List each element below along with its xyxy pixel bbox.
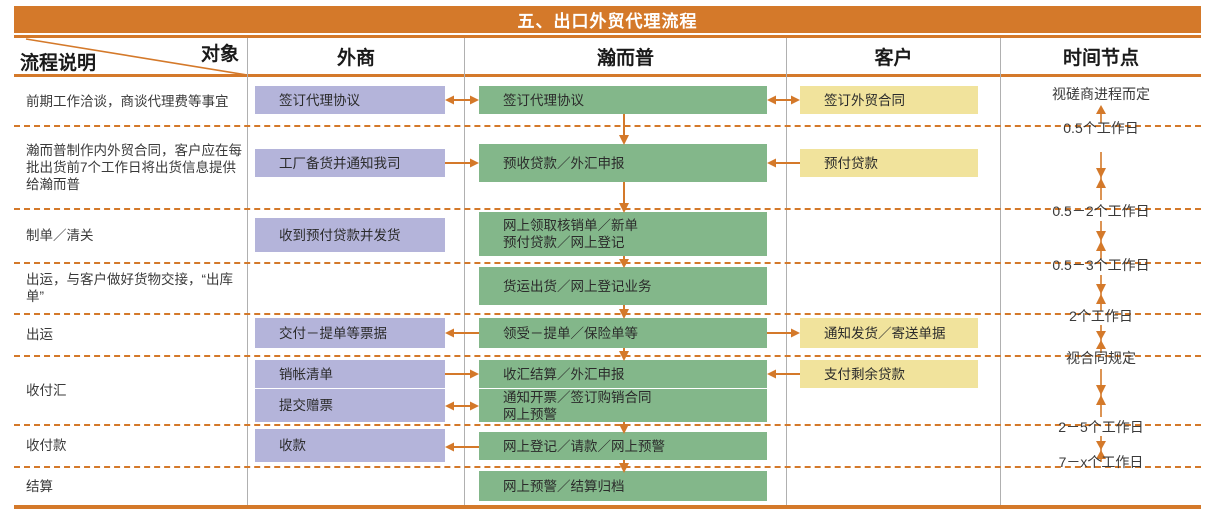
time-node-3: 0.5－2个工作日	[1001, 201, 1201, 221]
time-node-7: 2－5个工作日	[1001, 417, 1201, 437]
box-foreign-r6b[interactable]: 提交赠票	[255, 389, 445, 422]
box-foreign-r1[interactable]: 签订代理协议	[255, 86, 445, 114]
desc-row-3: 制单／清关	[26, 212, 242, 258]
vflow-arrow-1	[616, 114, 632, 145]
arrow-hanerpu-foreign-r5	[445, 326, 479, 340]
header-corner-cell: 对象 流程说明	[14, 38, 247, 74]
desc-row-4: 出运，与客户做好货物交接，“出库单”	[26, 266, 242, 310]
arrow-customer-hanerpu-r6	[767, 367, 800, 381]
header-underline	[14, 74, 1201, 77]
arrow-foreign-hanerpu-r1	[445, 93, 479, 107]
box-foreign-r7[interactable]: 收款	[255, 429, 445, 462]
arrow-customer-hanerpu-r2	[767, 156, 800, 170]
vflow-arrow-3	[616, 256, 632, 268]
arrow-foreign-hanerpu-r6a	[445, 367, 479, 381]
flowchart-page: 五、出口外贸代理流程 对象 流程说明 外商 瀚而普 客户 时间节点 前期工作洽谈…	[0, 0, 1215, 514]
desc-row-5: 出运	[26, 317, 242, 351]
time-node-5: 2个工作日	[1001, 306, 1201, 326]
vflow-arrow-2	[616, 182, 632, 213]
time-arrow-pair-2	[1093, 152, 1109, 200]
box-hanerpu-r2[interactable]: 预收贷款／外汇申报	[479, 144, 767, 182]
box-hanerpu-r3[interactable]: 网上领取核销单／新单 预付贷款／网上登记	[479, 212, 767, 256]
arrow-hanerpu-customer-r5	[767, 326, 800, 340]
vflow-arrow-4	[616, 305, 632, 319]
time-node-2: 0.5个工作日	[1001, 118, 1201, 138]
column-divider-2	[464, 38, 465, 505]
header-object-label: 对象	[201, 39, 239, 66]
page-title: 五、出口外贸代理流程	[14, 6, 1201, 33]
box-hanerpu-r6b[interactable]: 通知开票／签订购销合同 网上预警	[479, 389, 767, 422]
desc-row-7: 收付款	[26, 428, 242, 462]
time-node-6: 视合同规定	[1001, 348, 1201, 368]
header-col-customer: 客户	[787, 38, 1000, 74]
box-customer-r2[interactable]: 预付贷款	[800, 149, 978, 177]
column-divider-1	[247, 38, 248, 505]
box-foreign-r2[interactable]: 工厂备货并通知我司	[255, 149, 445, 177]
box-hanerpu-r1[interactable]: 签订代理协议	[479, 86, 767, 114]
desc-row-6: 收付汇	[26, 359, 242, 421]
desc-row-1: 前期工作洽谈，商谈代理费等事宜	[26, 79, 242, 123]
time-node-1: 视磋商进程而定	[1001, 84, 1201, 104]
header-col-foreign: 外商	[248, 38, 464, 74]
time-node-8: 7－x个工作日	[1001, 452, 1201, 472]
arrow-foreign-hanerpu-r2	[445, 156, 479, 170]
vflow-arrow-7	[616, 460, 632, 473]
desc-row-2: 瀚而普制作内外贸合同，客户应在每批出货前7个工作日将出货信息提供给瀚而普	[26, 129, 242, 205]
header-col-timenode: 时间节点	[1001, 38, 1201, 74]
vflow-arrow-5	[616, 348, 632, 361]
box-hanerpu-r4[interactable]: 货运出货／网上登记业务	[479, 267, 767, 305]
box-hanerpu-r8[interactable]: 网上预警／结算归档	[479, 471, 767, 501]
column-divider-3	[786, 38, 787, 505]
box-customer-r6[interactable]: 支付剩余贷款	[800, 360, 978, 388]
arrow-hanerpu-foreign-r7	[445, 440, 479, 454]
header-flow-label: 流程说明	[20, 48, 96, 75]
arrow-foreign-hanerpu-r6b	[445, 399, 479, 413]
box-hanerpu-r5[interactable]: 领受－提单／保险单等	[479, 318, 767, 348]
time-arrow-pair-3	[1093, 221, 1109, 259]
table-bottom-rule	[14, 505, 1201, 509]
header-col-hanerpu: 瀚而普	[465, 38, 786, 74]
box-hanerpu-r6a[interactable]: 收汇结算／外汇申报	[479, 360, 767, 388]
arrow-hanerpu-customer-r1	[767, 93, 800, 107]
box-foreign-r6a[interactable]: 销帐清单	[255, 360, 445, 388]
box-foreign-r3[interactable]: 收到预付贷款并发货	[255, 218, 445, 252]
box-foreign-r5[interactable]: 交付－提单等票据	[255, 318, 445, 348]
vflow-arrow-6	[616, 422, 632, 434]
time-node-4: 0.5－3个工作日	[1001, 255, 1201, 275]
time-arrow-pair-6	[1093, 369, 1109, 417]
box-hanerpu-r7[interactable]: 网上登记／请款／网上预警	[479, 432, 767, 460]
box-customer-r1[interactable]: 签订外贸合同	[800, 86, 978, 114]
box-customer-r5[interactable]: 通知发货／寄送单据	[800, 318, 978, 348]
desc-row-8: 结算	[26, 470, 242, 502]
